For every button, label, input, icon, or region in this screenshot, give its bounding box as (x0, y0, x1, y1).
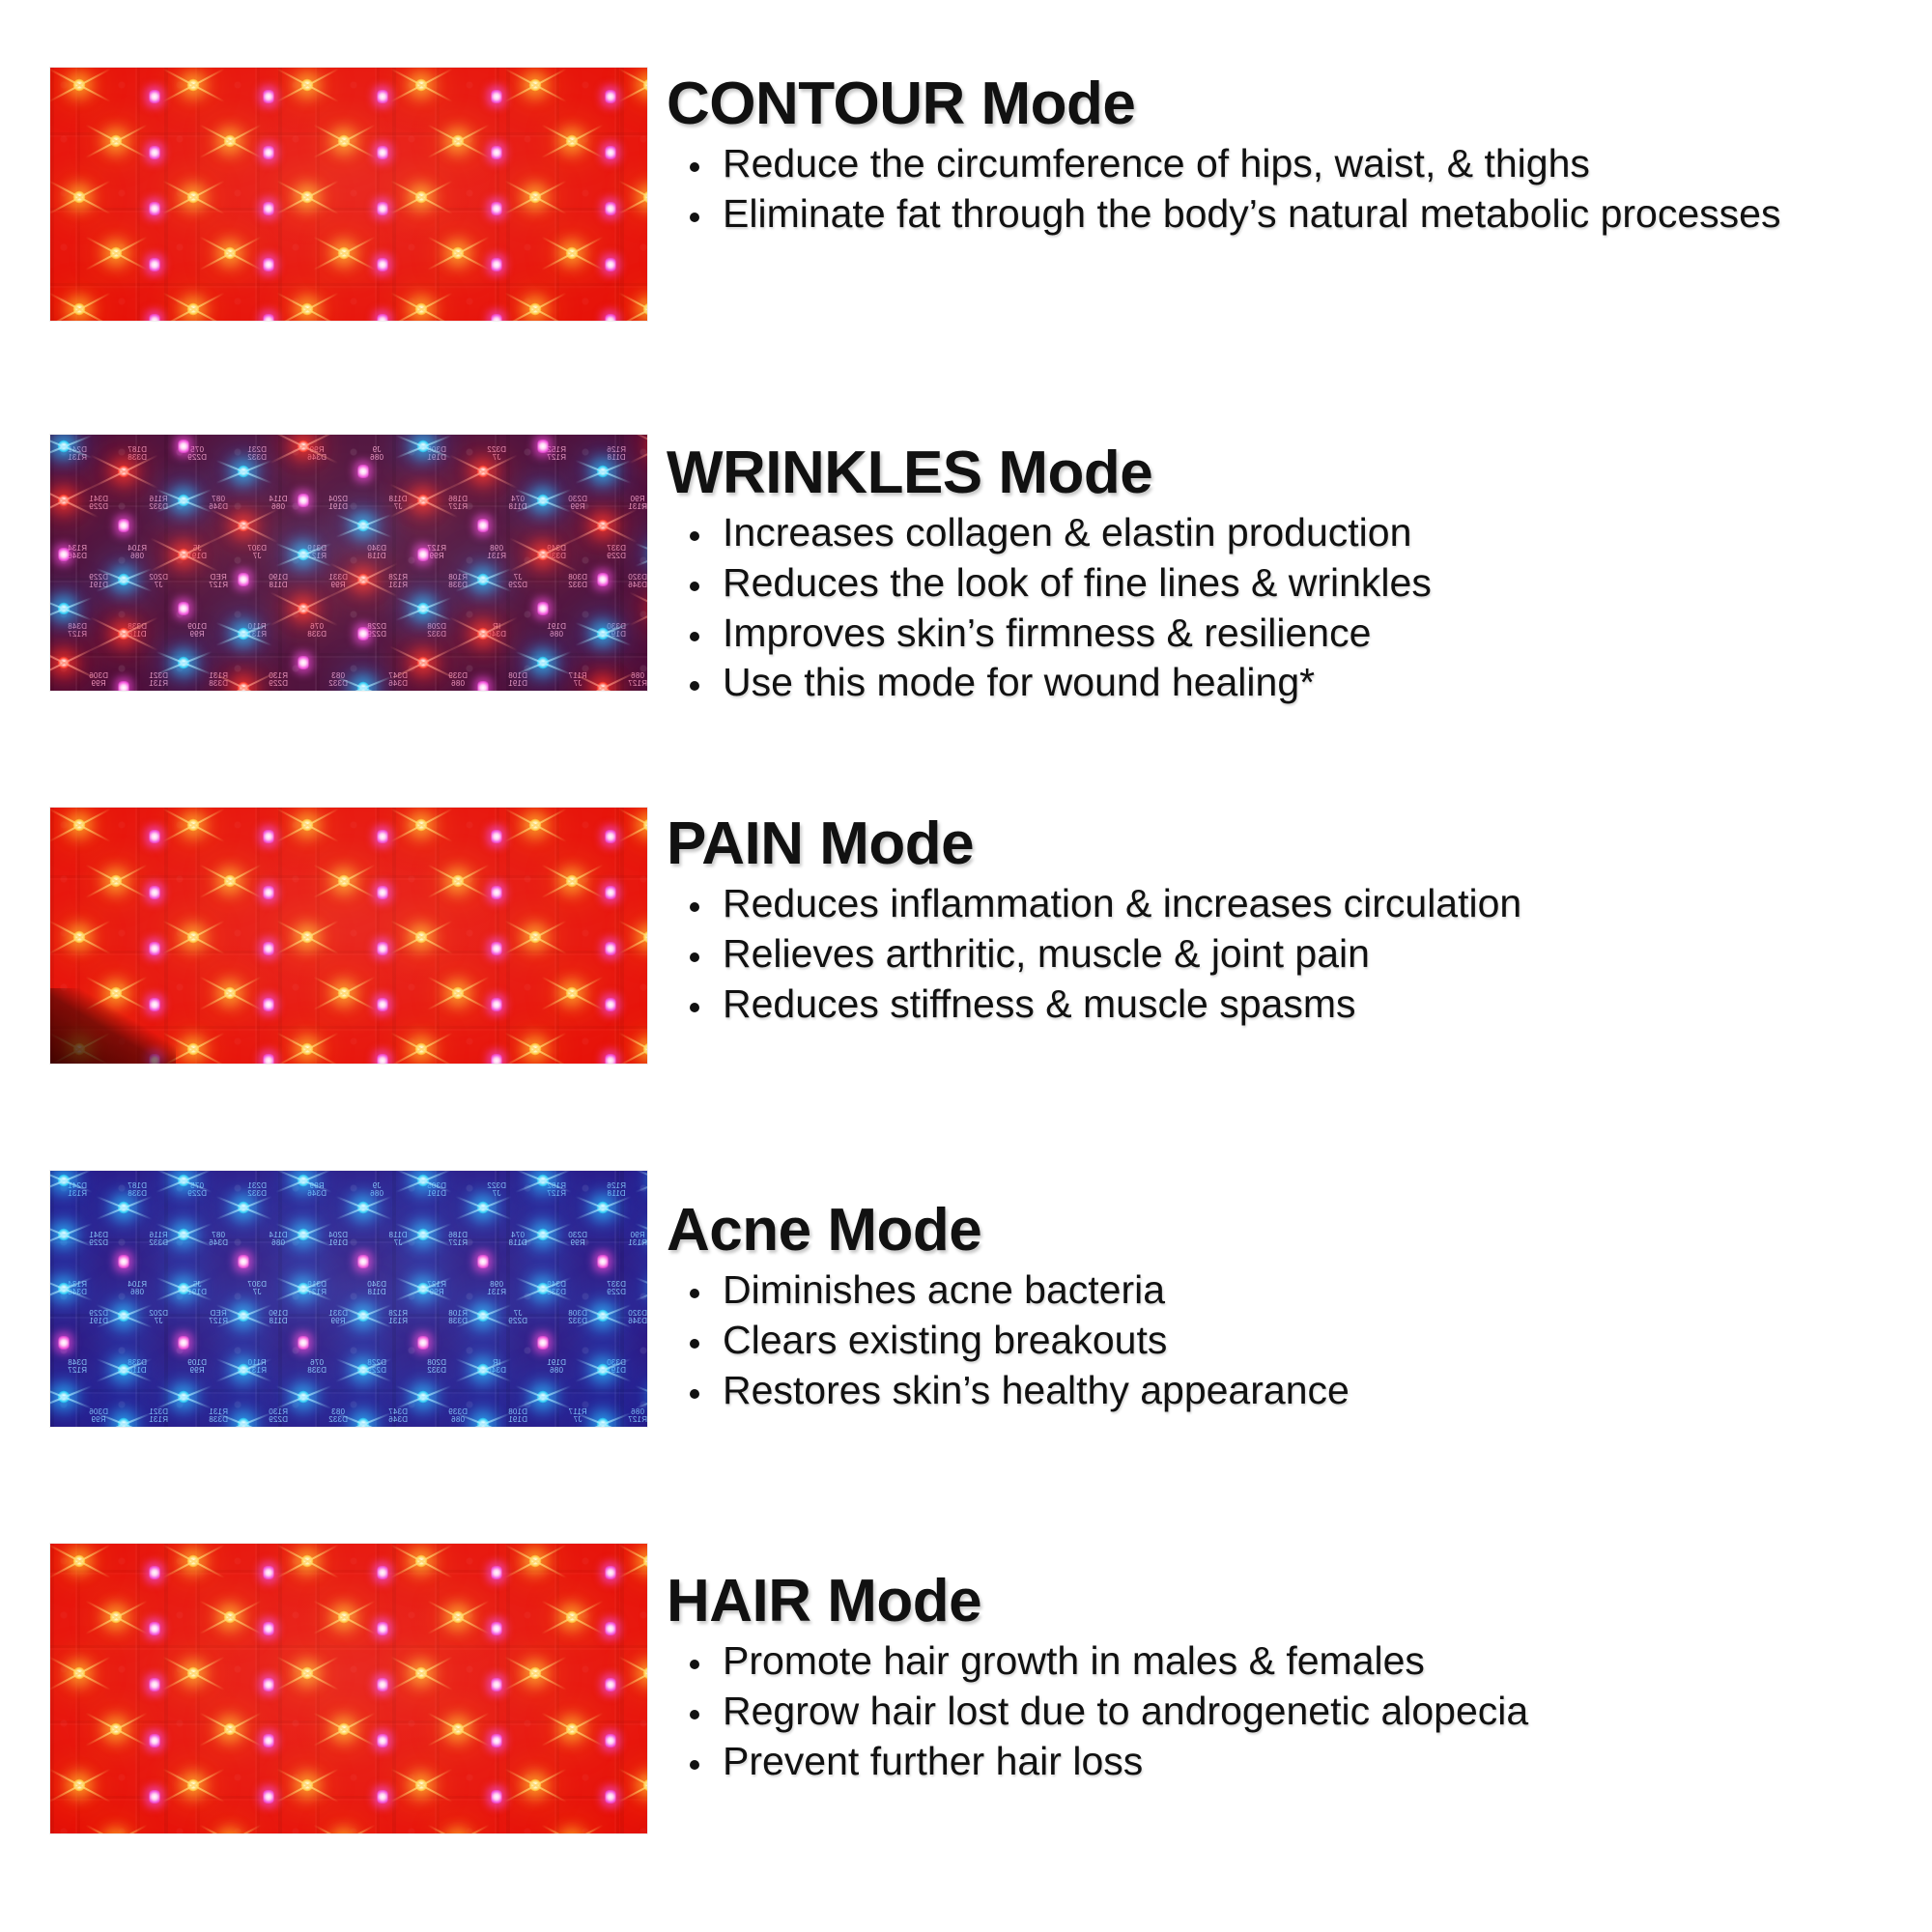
led-panel-surface (50, 68, 647, 321)
panel-vignette (50, 1544, 647, 1833)
mode-title-acne: Acne Mode (667, 1200, 1903, 1262)
bullet-item: Relieves arthritic, muscle & joint pain (667, 931, 1903, 978)
bullet-item: Reduces the look of fine lines & wrinkle… (667, 560, 1903, 607)
mode-bullets-contour: Reduce the circumference of hips, waist,… (667, 141, 1903, 237)
mode-text-contour: CONTOUR Mode Reduce the circumference of… (647, 68, 1932, 238)
bullet-item: Prevent further hair loss (667, 1739, 1903, 1785)
mode-section-acne: D241 R131D341 D229R134 D346D229 D191D348… (0, 1171, 1932, 1427)
mode-bullets-acne: Diminishes acne bacteria Clears existing… (667, 1267, 1903, 1413)
mode-text-acne: Acne Mode Diminishes acne bacteria Clear… (647, 1171, 1932, 1413)
bullet-item: Diminishes acne bacteria (667, 1267, 1903, 1314)
bullet-item: Reduces inflammation & increases circula… (667, 881, 1903, 927)
mode-bullets-hair: Promote hair growth in males & females R… (667, 1638, 1903, 1784)
mode-title-hair: HAIR Mode (667, 1571, 1903, 1633)
panel-vignette (50, 435, 647, 691)
bullet-item: Eliminate fat through the body’s natural… (667, 191, 1903, 238)
bullet-item: Use this mode for wound healing* (667, 660, 1903, 706)
mode-title-pain: PAIN Mode (667, 813, 1903, 875)
led-panel-contour (50, 68, 647, 321)
bullet-item: Restores skin’s healthy appearance (667, 1368, 1903, 1414)
mode-text-wrinkles: WRINKLES Mode Increases collagen & elast… (647, 435, 1932, 706)
bullet-item: Reduce the circumference of hips, waist,… (667, 141, 1903, 187)
led-panel-surface (50, 808, 647, 1064)
mode-section-hair: HAIR Mode Promote hair growth in males &… (0, 1544, 1932, 1833)
led-panel-surface: D241 R131D341 D229R134 D346D229 D191D348… (50, 435, 647, 691)
mode-title-wrinkles: WRINKLES Mode (667, 442, 1903, 504)
mode-title-contour: CONTOUR Mode (667, 73, 1903, 135)
panel-vignette (50, 1171, 647, 1427)
bullet-item: Regrow hair lost due to androgenetic alo… (667, 1689, 1903, 1735)
led-panel-acne: D241 R131D341 D229R134 D346D229 D191D348… (50, 1171, 647, 1427)
bullet-item: Promote hair growth in males & females (667, 1638, 1903, 1685)
mode-text-pain: PAIN Mode Reduces inflammation & increas… (647, 808, 1932, 1027)
mode-section-pain: PAIN Mode Reduces inflammation & increas… (0, 808, 1932, 1064)
panel-vignette (50, 68, 647, 321)
panel-vignette (50, 808, 647, 1064)
led-panel-hair (50, 1544, 647, 1833)
led-panel-pain (50, 808, 647, 1064)
bullet-item: Clears existing breakouts (667, 1318, 1903, 1364)
mode-bullets-wrinkles: Increases collagen & elastin production … (667, 510, 1903, 705)
mode-bullets-pain: Reduces inflammation & increases circula… (667, 881, 1903, 1027)
led-panel-wrinkles: D241 R131D341 D229R134 D346D229 D191D348… (50, 435, 647, 691)
led-panel-surface (50, 1544, 647, 1833)
bullet-item: Improves skin’s firmness & resilience (667, 611, 1903, 657)
mode-text-hair: HAIR Mode Promote hair growth in males &… (647, 1544, 1932, 1784)
mode-section-contour: CONTOUR Mode Reduce the circumference of… (0, 68, 1932, 321)
bullet-item: Increases collagen & elastin production (667, 510, 1903, 556)
mode-section-wrinkles: D241 R131D341 D229R134 D346D229 D191D348… (0, 435, 1932, 706)
mode-guide-page: CONTOUR Mode Reduce the circumference of… (0, 0, 1932, 1932)
bullet-item: Reduces stiffness & muscle spasms (667, 981, 1903, 1028)
led-panel-surface: D241 R131D341 D229R134 D346D229 D191D348… (50, 1171, 647, 1427)
